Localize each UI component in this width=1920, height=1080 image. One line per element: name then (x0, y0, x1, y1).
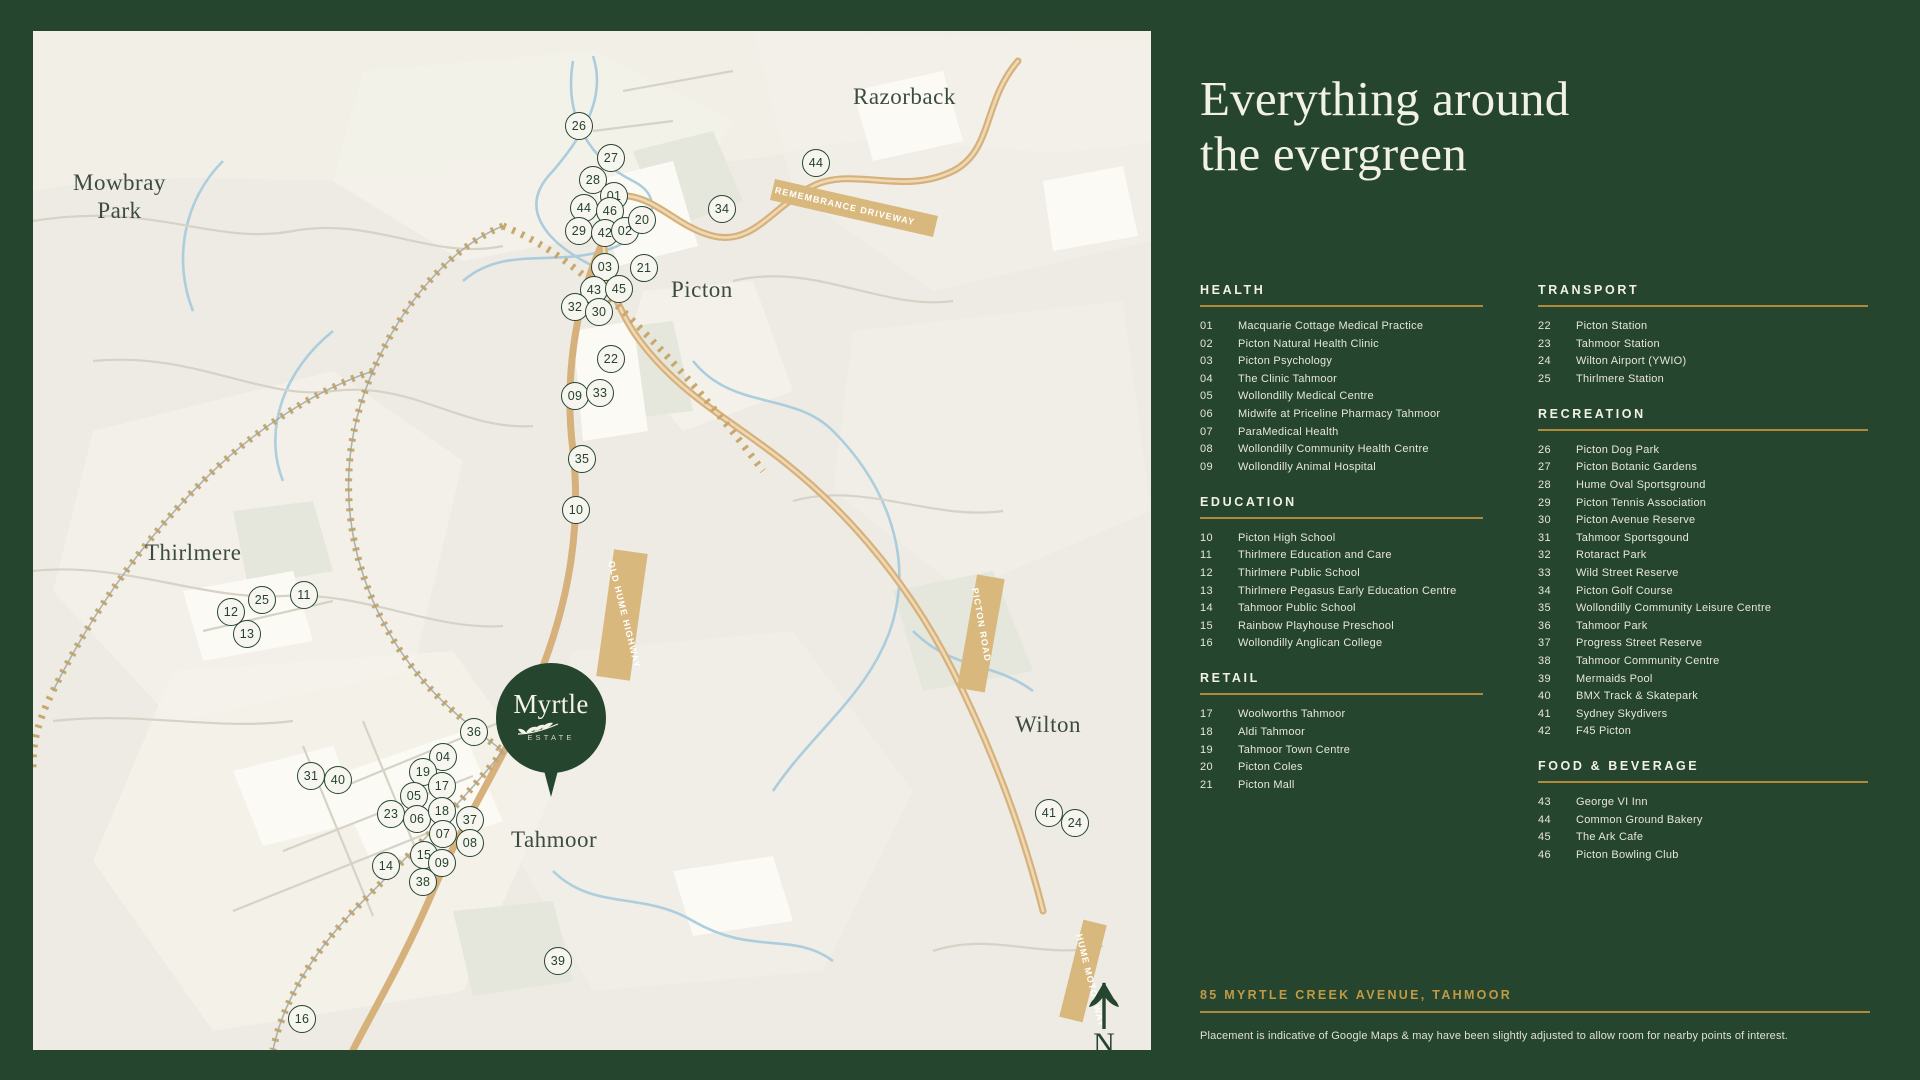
legend-item-number: 31 (1538, 532, 1576, 544)
legend-item-number: 29 (1538, 497, 1576, 509)
legend-item-number: 26 (1538, 444, 1576, 456)
legend-item-number: 04 (1200, 373, 1238, 385)
panel-footer: 85 MYRTLE CREEK AVENUE, TAHMOOR Placemen… (1200, 988, 1870, 1042)
legend-section-rule (1538, 781, 1868, 783)
legend-item-number: 13 (1200, 585, 1238, 597)
map-canvas[interactable]: Razorback MowbrayPark Picton Thirlmere W… (33, 31, 1151, 1050)
map-pin-44[interactable]: 44 (802, 149, 830, 177)
legend-item-label: Tahmoor Station (1576, 338, 1660, 350)
legend-item[interactable]: 03Picton Psychology (1200, 355, 1483, 367)
legend-item[interactable]: 29Picton Tennis Association (1538, 497, 1868, 509)
legend-item-label: Wollondilly Community Health Centre (1238, 443, 1429, 455)
map-pin-21[interactable]: 21 (630, 254, 658, 282)
legend-item[interactable]: 36Tahmoor Park (1538, 620, 1868, 632)
legend-item[interactable]: 06Midwife at Priceline Pharmacy Tahmoor (1200, 408, 1483, 420)
legend-item-number: 02 (1200, 338, 1238, 350)
legend-item[interactable]: 40BMX Track & Skatepark (1538, 690, 1868, 702)
legend-item-label: Woolworths Tahmoor (1238, 708, 1345, 720)
legend-item-number: 07 (1200, 426, 1238, 438)
legend-section-rule (1538, 305, 1868, 307)
map-pin-45[interactable]: 45 (605, 275, 633, 303)
map-pin-30[interactable]: 30 (585, 298, 613, 326)
footer-address: 85 MYRTLE CREEK AVENUE, TAHMOOR (1200, 988, 1870, 1002)
legend-item-label: Rotaract Park (1576, 549, 1647, 561)
legend-item-number: 19 (1200, 744, 1238, 756)
legend-item-label: Picton Dog Park (1576, 444, 1659, 456)
legend-item-label: Picton Mall (1238, 779, 1295, 791)
estate-location-pin[interactable]: Myrtle ESTATE (496, 663, 606, 797)
legend-item-label: Tahmoor Sportsgound (1576, 532, 1689, 544)
legend-section: EDUCATION10Picton High School11Thirlmere… (1200, 495, 1483, 650)
legend-item-number: 30 (1538, 514, 1576, 526)
legend-item[interactable]: 30Picton Avenue Reserve (1538, 514, 1868, 526)
compass-north-label: N (1073, 1027, 1135, 1050)
legend-section-heading: RECREATION (1538, 407, 1868, 421)
legend-section-rule (1200, 305, 1483, 307)
map-pin-38[interactable]: 38 (409, 868, 437, 896)
legend-item-number: 03 (1200, 355, 1238, 367)
map-pin-29[interactable]: 29 (565, 217, 593, 245)
title-line-2: the evergreen (1200, 126, 1467, 181)
legend-item[interactable]: 07ParaMedical Health (1200, 426, 1483, 438)
legend-item-number: 16 (1200, 637, 1238, 649)
map-pin-06[interactable]: 06 (403, 805, 431, 833)
legend-item[interactable]: 16Wollondilly Anglican College (1200, 637, 1483, 649)
legend-item[interactable]: 09Wollondilly Animal Hospital (1200, 461, 1483, 473)
legend-item-label: Common Ground Bakery (1576, 814, 1703, 826)
map-pin-22[interactable]: 22 (597, 345, 625, 373)
legend-item-label: Hume Oval Sportsground (1576, 479, 1706, 491)
legend-item-label: ParaMedical Health (1238, 426, 1339, 438)
legend-item-label: Tahmoor Community Centre (1576, 655, 1720, 667)
legend-item[interactable]: 45The Ark Cafe (1538, 831, 1868, 843)
legend-item-label: George VI Inn (1576, 796, 1648, 808)
legend-column-right: TRANSPORT22Picton Station23Tahmoor Stati… (1538, 283, 1868, 883)
legend-item-label: Wollondilly Community Leisure Centre (1576, 602, 1771, 614)
legend-item[interactable]: 27Picton Botanic Gardens (1538, 461, 1868, 473)
legend-section: RETAIL17Woolworths Tahmoor18Aldi Tahmoor… (1200, 671, 1483, 790)
legend-item-number: 10 (1200, 532, 1238, 544)
legend-item-number: 23 (1538, 338, 1576, 350)
legend-item-number: 20 (1200, 761, 1238, 773)
legend-item[interactable]: 14Tahmoor Public School (1200, 602, 1483, 614)
legend-item-label: Aldi Tahmoor (1238, 726, 1305, 738)
map-pin-34[interactable]: 34 (708, 195, 736, 223)
legend-item-label: Midwife at Priceline Pharmacy Tahmoor (1238, 408, 1440, 420)
map-pin-36[interactable]: 36 (460, 718, 488, 746)
legend-section: FOOD & BEVERAGE43George VI Inn44Common G… (1538, 759, 1868, 861)
map-pin-41[interactable]: 41 (1035, 799, 1063, 827)
estate-brand-name: Myrtle (496, 689, 606, 720)
legend-item-number: 14 (1200, 602, 1238, 614)
legend-section: HEALTH01Macquarie Cottage Medical Practi… (1200, 283, 1483, 473)
legend-item-label: Picton Natural Health Clinic (1238, 338, 1379, 350)
legend-item[interactable]: 44Common Ground Bakery (1538, 814, 1868, 826)
legend-item[interactable]: 43George VI Inn (1538, 796, 1868, 808)
legend-section-heading: EDUCATION (1200, 495, 1483, 509)
map-pin-14[interactable]: 14 (372, 852, 400, 880)
legend-item-number: 06 (1200, 408, 1238, 420)
legend-item-number: 25 (1538, 373, 1576, 385)
map-pin-33[interactable]: 33 (586, 379, 614, 407)
legend-item[interactable]: 21Picton Mall (1200, 779, 1483, 791)
legend-item[interactable]: 32Rotaract Park (1538, 549, 1868, 561)
legend-item[interactable]: 23Tahmoor Station (1538, 338, 1868, 350)
legend-item[interactable]: 33Wild Street Reserve (1538, 567, 1868, 579)
legend-item-number: 21 (1200, 779, 1238, 791)
legend-item[interactable]: 31Tahmoor Sportsgound (1538, 532, 1868, 544)
legend-item[interactable]: 02Picton Natural Health Clinic (1200, 338, 1483, 350)
legend-item[interactable]: 01Macquarie Cottage Medical Practice (1200, 320, 1483, 332)
legend-item-label: Picton Tennis Association (1576, 497, 1706, 509)
legend-item-label: Picton Psychology (1238, 355, 1332, 367)
legend-section-heading: FOOD & BEVERAGE (1538, 759, 1868, 773)
legend-item[interactable]: 15Rainbow Playhouse Preschool (1200, 620, 1483, 632)
map-pin-31[interactable]: 31 (297, 762, 325, 790)
legend-item-label: Picton Botanic Gardens (1576, 461, 1697, 473)
legend-item-number: 36 (1538, 620, 1576, 632)
legend-item-label: Thirlmere Education and Care (1238, 549, 1392, 561)
map-pin-20[interactable]: 20 (628, 206, 656, 234)
legend-item-label: Wild Street Reserve (1576, 567, 1679, 579)
legend-item-label: Wilton Airport (YWIO) (1576, 355, 1686, 367)
legend-section-heading: HEALTH (1200, 283, 1483, 297)
legend-item-label: Tahmoor Park (1576, 620, 1647, 632)
legend-item-label: Sydney Skydivers (1576, 708, 1667, 720)
map-pin-09[interactable]: 09 (561, 382, 589, 410)
legend-section-heading: RETAIL (1200, 671, 1483, 685)
legend-item-number: 43 (1538, 796, 1576, 808)
legend-item[interactable]: 08Wollondilly Community Health Centre (1200, 443, 1483, 455)
legend-item-number: 28 (1538, 479, 1576, 491)
legend-item-label: Rainbow Playhouse Preschool (1238, 620, 1394, 632)
map-pin-39[interactable]: 39 (544, 947, 572, 975)
poster-root: Razorback MowbrayPark Picton Thirlmere W… (0, 0, 1920, 1080)
legend-item-number: 37 (1538, 637, 1576, 649)
legend-item-label: Macquarie Cottage Medical Practice (1238, 320, 1423, 332)
legend-column-left: HEALTH01Macquarie Cottage Medical Practi… (1200, 283, 1483, 813)
legend-item-number: 35 (1538, 602, 1576, 614)
map-pin-11[interactable]: 11 (290, 581, 318, 609)
legend-item-number: 45 (1538, 831, 1576, 843)
legend-item-number: 38 (1538, 655, 1576, 667)
legend-item-label: Picton Station (1576, 320, 1647, 332)
compass-rose: N (1073, 979, 1135, 1050)
map-pin-35[interactable]: 35 (568, 445, 596, 473)
legend-item-label: Thirlmere Pegasus Early Education Centre (1238, 585, 1456, 597)
legend-item[interactable]: 24Wilton Airport (YWIO) (1538, 355, 1868, 367)
legend-item-label: Tahmoor Town Centre (1238, 744, 1350, 756)
legend-item[interactable]: 39Mermaids Pool (1538, 673, 1868, 685)
legend-item[interactable]: 25Thirlmere Station (1538, 373, 1868, 385)
legend-item[interactable]: 20Picton Coles (1200, 761, 1483, 773)
legend-item-number: 11 (1200, 549, 1238, 561)
legend-item[interactable]: 22Picton Station (1538, 320, 1868, 332)
legend-item[interactable]: 26Picton Dog Park (1538, 444, 1868, 456)
legend-item[interactable]: 13Thirlmere Pegasus Early Education Cent… (1200, 585, 1483, 597)
legend-item-number: 27 (1538, 461, 1576, 473)
map-pin-25[interactable]: 25 (248, 586, 276, 614)
map-pin-26[interactable]: 26 (565, 112, 593, 140)
legend-item-label: Picton Avenue Reserve (1576, 514, 1695, 526)
legend-item-label: The Ark Cafe (1576, 831, 1643, 843)
legend-item[interactable]: 28Hume Oval Sportsground (1538, 479, 1868, 491)
legend-item-label: Picton High School (1238, 532, 1335, 544)
legend-item[interactable]: 05Wollondilly Medical Centre (1200, 390, 1483, 402)
legend-item[interactable]: 42F45 Picton (1538, 725, 1868, 737)
legend-item[interactable]: 18Aldi Tahmoor (1200, 726, 1483, 738)
legend-item-label: The Clinic Tahmoor (1238, 373, 1337, 385)
legend-item-number: 40 (1538, 690, 1576, 702)
legend-item-number: 39 (1538, 673, 1576, 685)
map-pin-17[interactable]: 17 (428, 772, 456, 800)
legend-item-label: Wollondilly Animal Hospital (1238, 461, 1376, 473)
estate-brand-sub: ESTATE (496, 733, 606, 742)
footer-disclaimer: Placement is indicative of Google Maps &… (1200, 1030, 1870, 1042)
legend-item-number: 09 (1200, 461, 1238, 473)
legend-item-number: 05 (1200, 390, 1238, 402)
legend-section-rule (1200, 517, 1483, 519)
map-pin-13[interactable]: 13 (233, 620, 261, 648)
map-pin-16[interactable]: 16 (288, 1005, 316, 1033)
legend-item-number: 33 (1538, 567, 1576, 579)
legend-item[interactable]: 04The Clinic Tahmoor (1200, 373, 1483, 385)
legend-section-rule (1200, 693, 1483, 695)
legend-item[interactable]: 11Thirlmere Education and Care (1200, 549, 1483, 561)
legend-item-number: 18 (1200, 726, 1238, 738)
map-pin-08[interactable]: 08 (456, 829, 484, 857)
legend-item-number: 08 (1200, 443, 1238, 455)
legend-item-number: 44 (1538, 814, 1576, 826)
legend-item-label: Picton Golf Course (1576, 585, 1673, 597)
legend-item-label: Picton Bowling Club (1576, 849, 1679, 861)
map-pin-23[interactable]: 23 (377, 800, 405, 828)
legend-item[interactable]: 46Picton Bowling Club (1538, 849, 1868, 861)
legend-item-number: 17 (1200, 708, 1238, 720)
legend-item[interactable]: 41Sydney Skydivers (1538, 708, 1868, 720)
legend-section: TRANSPORT22Picton Station23Tahmoor Stati… (1538, 283, 1868, 385)
legend-item-number: 12 (1200, 567, 1238, 579)
legend-item[interactable]: 35Wollondilly Community Leisure Centre (1538, 602, 1868, 614)
page-title: Everything around the evergreen (1200, 72, 1840, 182)
legend-item-number: 42 (1538, 725, 1576, 737)
legend-section-heading: TRANSPORT (1538, 283, 1868, 297)
legend-item-label: Wollondilly Anglican College (1238, 637, 1382, 649)
legend-item-label: Tahmoor Public School (1238, 602, 1356, 614)
footer-divider (1200, 1011, 1870, 1013)
legend-item-number: 15 (1200, 620, 1238, 632)
legend-item-number: 46 (1538, 849, 1576, 861)
legend-item[interactable]: 34Picton Golf Course (1538, 585, 1868, 597)
legend-item[interactable]: 19Tahmoor Town Centre (1200, 744, 1483, 756)
legend-item-label: Thirlmere Station (1576, 373, 1664, 385)
map-pin-40[interactable]: 40 (324, 766, 352, 794)
legend-item-label: Thirlmere Public School (1238, 567, 1360, 579)
legend-item-number: 32 (1538, 549, 1576, 561)
legend-item-label: BMX Track & Skatepark (1576, 690, 1698, 702)
legend-item-label: Wollondilly Medical Centre (1238, 390, 1374, 402)
legend-item[interactable]: 10Picton High School (1200, 532, 1483, 544)
legend-section-rule (1538, 429, 1868, 431)
legend-item-number: 34 (1538, 585, 1576, 597)
info-panel: Everything around the evergreen HEALTH01… (1151, 0, 1920, 1080)
legend-item[interactable]: 37Progress Street Reserve (1538, 637, 1868, 649)
legend-item[interactable]: 17Woolworths Tahmoor (1200, 708, 1483, 720)
legend-section: RECREATION26Picton Dog Park27Picton Bota… (1538, 407, 1868, 738)
legend-item-number: 01 (1200, 320, 1238, 332)
legend-item-label: Mermaids Pool (1576, 673, 1653, 685)
legend-item-label: Progress Street Reserve (1576, 637, 1702, 649)
map-pin-10[interactable]: 10 (562, 496, 590, 524)
map-pin-24[interactable]: 24 (1061, 809, 1089, 837)
legend-item-label: F45 Picton (1576, 725, 1631, 737)
legend-item[interactable]: 38Tahmoor Community Centre (1538, 655, 1868, 667)
legend-item-number: 41 (1538, 708, 1576, 720)
legend-item-number: 22 (1538, 320, 1576, 332)
legend-item-number: 24 (1538, 355, 1576, 367)
legend-item-label: Picton Coles (1238, 761, 1303, 773)
title-line-1: Everything around (1200, 71, 1569, 126)
legend-item[interactable]: 12Thirlmere Public School (1200, 567, 1483, 579)
